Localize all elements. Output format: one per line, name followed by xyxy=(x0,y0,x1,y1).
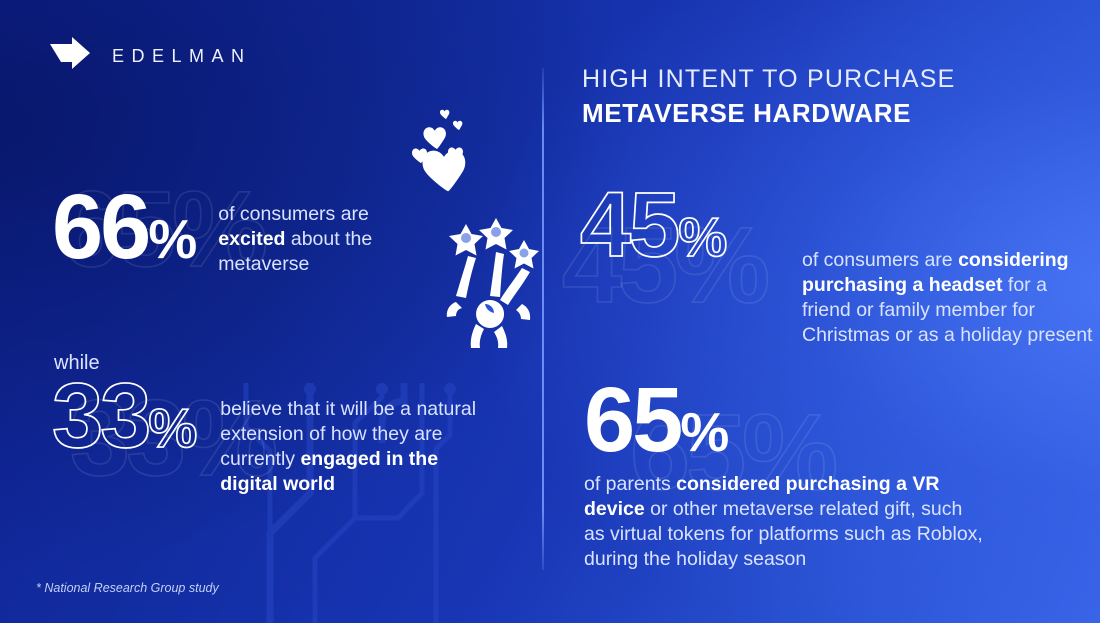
stat-block-33: while 33% 33% believe that it will be a … xyxy=(52,352,500,497)
stat-45-description: of consumers are considering purchasing … xyxy=(802,248,1094,348)
footnote-source: * National Research Group study xyxy=(36,581,219,595)
infographic-canvas: EDELMAN xyxy=(0,0,1100,623)
section-heading: HIGH INTENT TO PURCHASE METAVERSE HARDWA… xyxy=(582,64,956,129)
stat-block-65: 65% 65% of parents considered purchasing… xyxy=(584,383,984,572)
stat-block-45: 45% 45% of consumers are considering pur… xyxy=(580,188,726,263)
left-column: 65% 66% of consumers are excited about t… xyxy=(0,0,542,623)
stat-value-33: 33% xyxy=(52,379,196,454)
firework-celebration-icon xyxy=(444,212,540,348)
stat-value-66: 66% xyxy=(52,190,196,265)
hearts-icon xyxy=(410,104,482,192)
stat-66-description: of consumers are excited about the metav… xyxy=(218,202,398,277)
stat-value-65: 65% xyxy=(584,383,728,458)
right-column: HIGH INTENT TO PURCHASE METAVERSE HARDWA… xyxy=(542,0,1100,623)
heading-line-1: HIGH INTENT TO PURCHASE xyxy=(582,64,956,94)
stat-block-66: 65% 66% of consumers are excited about t… xyxy=(52,188,398,277)
stat-65-description: of parents considered purchasing a VR de… xyxy=(584,472,984,572)
stat-33-description: believe that it will be a natural extens… xyxy=(220,397,500,497)
heading-line-2: METAVERSE HARDWARE xyxy=(582,97,956,129)
stat-value-45: 45% xyxy=(580,188,726,263)
